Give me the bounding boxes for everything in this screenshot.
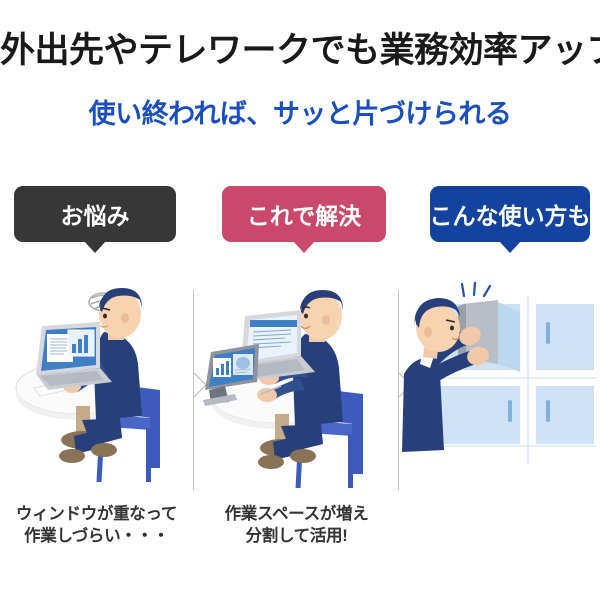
badge-problem-label: お悩み [61, 197, 130, 231]
badge-usage-label: こんな使い方も [430, 197, 591, 231]
badge-row: お悩み これで解決 こんな使い方も [0, 186, 600, 256]
badge-problem: お悩み [14, 186, 176, 242]
illustration-panel-solution [195, 278, 398, 493]
badge-solution: これで解決 [222, 186, 386, 242]
illustration-panel-problem [0, 278, 193, 493]
sparkle-icon [462, 283, 490, 296]
page-title: 外出先やテレワークでも業務効率アップ [0, 22, 600, 73]
caption-line-1: 作業スペースが増え [225, 505, 369, 523]
page-subtitle: 使い終われば、サッと片づけられる [0, 92, 600, 131]
panel-caption-problem: ウィンドウが重なって 作業しづらい・・・ [0, 503, 193, 547]
illustration-panel-storage [400, 278, 600, 493]
badge-solution-label: これで解決 [247, 197, 361, 231]
cabinet-door [436, 386, 520, 444]
panel-caption-solution: 作業スペースが増え 分割して活用! [195, 503, 398, 547]
caption-line-2: 作業しづらい・・・ [0, 525, 193, 547]
caption-line-1: ウィンドウが重なって [16, 505, 177, 523]
badge-tail-icon [293, 241, 315, 253]
badge-usage: こんな使い方も [430, 186, 590, 242]
cabinet-door [536, 304, 594, 370]
infographic-page: 外出先やテレワークでも業務効率アップ 使い終われば、サッと片づけられる お悩み … [0, 0, 600, 600]
caption-line-2: 分割して活用! [195, 525, 398, 547]
cabinet-door [536, 386, 594, 444]
badge-tail-icon [499, 241, 521, 253]
badge-tail-icon [84, 241, 106, 253]
